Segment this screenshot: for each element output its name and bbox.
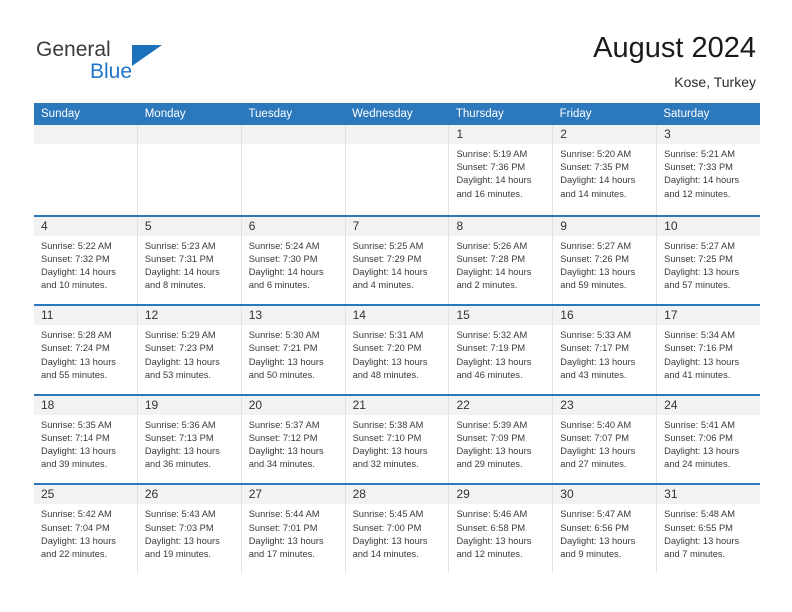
day-info: Sunrise: 5:29 AMSunset: 7:23 PMDaylight:… [138, 325, 241, 382]
day-number: 14 [353, 308, 366, 322]
sunrise-text: Sunrise: 5:27 AM [560, 240, 651, 253]
calendar-day-cell[interactable]: 25Sunrise: 5:42 AMSunset: 7:04 PMDayligh… [34, 485, 138, 573]
daylight-text: Daylight: 14 hours and 6 minutes. [249, 266, 340, 292]
day-number-band: 3 [657, 125, 760, 144]
daylight-text: Daylight: 14 hours and 16 minutes. [456, 174, 547, 200]
day-info: Sunrise: 5:21 AMSunset: 7:33 PMDaylight:… [657, 144, 760, 201]
daylight-text: Daylight: 13 hours and 46 minutes. [456, 356, 547, 382]
day-info: Sunrise: 5:26 AMSunset: 7:28 PMDaylight:… [449, 236, 552, 293]
day-number: 31 [664, 487, 677, 501]
day-of-week-header-saturday: Saturday [656, 103, 760, 125]
sunrise-text: Sunrise: 5:34 AM [664, 329, 755, 342]
day-number-band: 21 [346, 396, 449, 415]
daylight-text: Daylight: 14 hours and 12 minutes. [664, 174, 755, 200]
sunset-text: Sunset: 7:13 PM [145, 432, 236, 445]
sunset-text: Sunset: 7:00 PM [353, 522, 444, 535]
daylight-text: Daylight: 14 hours and 4 minutes. [353, 266, 444, 292]
day-info: Sunrise: 5:27 AMSunset: 7:26 PMDaylight:… [553, 236, 656, 293]
daylight-text: Daylight: 13 hours and 7 minutes. [664, 535, 755, 561]
daylight-text: Daylight: 13 hours and 34 minutes. [249, 445, 340, 471]
sunrise-text: Sunrise: 5:43 AM [145, 508, 236, 521]
day-number-band: 30 [553, 485, 656, 504]
sunrise-text: Sunrise: 5:32 AM [456, 329, 547, 342]
day-number: 17 [664, 308, 677, 322]
day-info: Sunrise: 5:44 AMSunset: 7:01 PMDaylight:… [242, 504, 345, 561]
sunrise-text: Sunrise: 5:41 AM [664, 419, 755, 432]
daylight-text: Daylight: 13 hours and 27 minutes. [560, 445, 651, 471]
day-number: 12 [145, 308, 158, 322]
daylight-text: Daylight: 13 hours and 57 minutes. [664, 266, 755, 292]
day-info: Sunrise: 5:42 AMSunset: 7:04 PMDaylight:… [34, 504, 137, 561]
day-of-week-header-sunday: Sunday [34, 103, 138, 125]
calendar-day-cell[interactable]: 12Sunrise: 5:29 AMSunset: 7:23 PMDayligh… [138, 306, 242, 394]
day-of-week-header-row: SundayMondayTuesdayWednesdayThursdayFrid… [34, 103, 760, 125]
sunrise-text: Sunrise: 5:33 AM [560, 329, 651, 342]
day-number-band: 28 [346, 485, 449, 504]
sunset-text: Sunset: 7:26 PM [560, 253, 651, 266]
daylight-text: Daylight: 13 hours and 24 minutes. [664, 445, 755, 471]
day-number: 29 [456, 487, 469, 501]
day-info: Sunrise: 5:41 AMSunset: 7:06 PMDaylight:… [657, 415, 760, 472]
calendar-day-cell-empty [346, 125, 450, 215]
triangle-icon [132, 45, 162, 66]
sunrise-text: Sunrise: 5:23 AM [145, 240, 236, 253]
daylight-text: Daylight: 13 hours and 55 minutes. [41, 356, 132, 382]
day-number-band: 2 [553, 125, 656, 144]
calendar-day-cell[interactable]: 11Sunrise: 5:28 AMSunset: 7:24 PMDayligh… [34, 306, 138, 394]
calendar-page: General Blue August 2024 Kose, Turkey Su… [0, 0, 792, 612]
daylight-text: Daylight: 13 hours and 39 minutes. [41, 445, 132, 471]
day-info: Sunrise: 5:28 AMSunset: 7:24 PMDaylight:… [34, 325, 137, 382]
day-number: 15 [456, 308, 469, 322]
logo-text-blue: Blue [90, 60, 132, 84]
sunset-text: Sunset: 7:30 PM [249, 253, 340, 266]
daylight-text: Daylight: 13 hours and 17 minutes. [249, 535, 340, 561]
day-number-band: 13 [242, 306, 345, 325]
calendar-day-cell[interactable]: 31Sunrise: 5:48 AMSunset: 6:55 PMDayligh… [657, 485, 760, 573]
sunrise-text: Sunrise: 5:19 AM [456, 148, 547, 161]
page-header: General Blue August 2024 Kose, Turkey [0, 0, 792, 100]
day-number: 25 [41, 487, 54, 501]
calendar-day-cell[interactable]: 26Sunrise: 5:43 AMSunset: 7:03 PMDayligh… [138, 485, 242, 573]
day-number: 24 [664, 398, 677, 412]
day-number-band: 11 [34, 306, 137, 325]
day-number-band: 19 [138, 396, 241, 415]
sunrise-text: Sunrise: 5:26 AM [456, 240, 547, 253]
sunrise-text: Sunrise: 5:48 AM [664, 508, 755, 521]
sunrise-text: Sunrise: 5:47 AM [560, 508, 651, 521]
sunrise-text: Sunrise: 5:25 AM [353, 240, 444, 253]
calendar-day-cell[interactable]: 10Sunrise: 5:27 AMSunset: 7:25 PMDayligh… [657, 217, 760, 305]
daylight-text: Daylight: 13 hours and 36 minutes. [145, 445, 236, 471]
daylight-text: Daylight: 13 hours and 29 minutes. [456, 445, 547, 471]
sunrise-text: Sunrise: 5:40 AM [560, 419, 651, 432]
sunrise-text: Sunrise: 5:45 AM [353, 508, 444, 521]
day-info: Sunrise: 5:22 AMSunset: 7:32 PMDaylight:… [34, 236, 137, 293]
day-number-band: 22 [449, 396, 552, 415]
day-number-band: 7 [346, 217, 449, 236]
day-number-band [138, 125, 241, 144]
day-number: 1 [456, 127, 463, 141]
sunset-text: Sunset: 7:06 PM [664, 432, 755, 445]
day-info: Sunrise: 5:43 AMSunset: 7:03 PMDaylight:… [138, 504, 241, 561]
day-info: Sunrise: 5:40 AMSunset: 7:07 PMDaylight:… [553, 415, 656, 472]
daylight-text: Daylight: 13 hours and 50 minutes. [249, 356, 340, 382]
day-number-band: 5 [138, 217, 241, 236]
day-number-band: 23 [553, 396, 656, 415]
calendar-day-cell[interactable]: 29Sunrise: 5:46 AMSunset: 6:58 PMDayligh… [449, 485, 553, 573]
sunrise-text: Sunrise: 5:30 AM [249, 329, 340, 342]
sunset-text: Sunset: 7:23 PM [145, 342, 236, 355]
sunrise-text: Sunrise: 5:29 AM [145, 329, 236, 342]
page-title: August 2024 [593, 30, 756, 66]
day-number-band: 27 [242, 485, 345, 504]
calendar-week-row: 1Sunrise: 5:19 AMSunset: 7:36 PMDaylight… [34, 125, 760, 215]
sunrise-text: Sunrise: 5:22 AM [41, 240, 132, 253]
sunrise-text: Sunrise: 5:38 AM [353, 419, 444, 432]
calendar-day-cell[interactable]: 16Sunrise: 5:33 AMSunset: 7:17 PMDayligh… [553, 306, 657, 394]
sunset-text: Sunset: 6:56 PM [560, 522, 651, 535]
calendar-day-cell[interactable]: 19Sunrise: 5:36 AMSunset: 7:13 PMDayligh… [138, 396, 242, 484]
day-info: Sunrise: 5:46 AMSunset: 6:58 PMDaylight:… [449, 504, 552, 561]
day-number-band: 17 [657, 306, 760, 325]
calendar-day-cell[interactable]: 5Sunrise: 5:23 AMSunset: 7:31 PMDaylight… [138, 217, 242, 305]
page-subtitle: Kose, Turkey [593, 72, 756, 92]
day-number: 8 [456, 219, 463, 233]
day-info: Sunrise: 5:35 AMSunset: 7:14 PMDaylight:… [34, 415, 137, 472]
day-number: 27 [249, 487, 262, 501]
daylight-text: Daylight: 13 hours and 9 minutes. [560, 535, 651, 561]
day-number-band: 20 [242, 396, 345, 415]
calendar-day-cell[interactable]: 30Sunrise: 5:47 AMSunset: 6:56 PMDayligh… [553, 485, 657, 573]
calendar-day-cell[interactable]: 1Sunrise: 5:19 AMSunset: 7:36 PMDaylight… [449, 125, 553, 215]
day-number: 5 [145, 219, 152, 233]
day-number: 7 [353, 219, 360, 233]
day-number-band: 24 [657, 396, 760, 415]
day-number-band: 6 [242, 217, 345, 236]
sunset-text: Sunset: 7:10 PM [353, 432, 444, 445]
sunrise-text: Sunrise: 5:46 AM [456, 508, 547, 521]
sunrise-text: Sunrise: 5:27 AM [664, 240, 755, 253]
day-number: 13 [249, 308, 262, 322]
title-block: August 2024 Kose, Turkey [593, 30, 756, 92]
day-number: 9 [560, 219, 567, 233]
calendar-day-cell[interactable]: 22Sunrise: 5:39 AMSunset: 7:09 PMDayligh… [449, 396, 553, 484]
day-number-band: 29 [449, 485, 552, 504]
sunset-text: Sunset: 7:32 PM [41, 253, 132, 266]
day-number-band: 16 [553, 306, 656, 325]
sunset-text: Sunset: 7:25 PM [664, 253, 755, 266]
calendar-day-cell-empty [34, 125, 138, 215]
daylight-text: Daylight: 13 hours and 19 minutes. [145, 535, 236, 561]
calendar-day-cell[interactable]: 20Sunrise: 5:37 AMSunset: 7:12 PMDayligh… [242, 396, 346, 484]
day-info: Sunrise: 5:27 AMSunset: 7:25 PMDaylight:… [657, 236, 760, 293]
calendar-day-cell[interactable]: 2Sunrise: 5:20 AMSunset: 7:35 PMDaylight… [553, 125, 657, 215]
calendar-week-row: 11Sunrise: 5:28 AMSunset: 7:24 PMDayligh… [34, 304, 760, 394]
day-number-band: 25 [34, 485, 137, 504]
sunrise-text: Sunrise: 5:42 AM [41, 508, 132, 521]
sunrise-text: Sunrise: 5:39 AM [456, 419, 547, 432]
sunset-text: Sunset: 7:14 PM [41, 432, 132, 445]
sunrise-text: Sunrise: 5:44 AM [249, 508, 340, 521]
sunset-text: Sunset: 7:21 PM [249, 342, 340, 355]
sunset-text: Sunset: 7:20 PM [353, 342, 444, 355]
day-info: Sunrise: 5:37 AMSunset: 7:12 PMDaylight:… [242, 415, 345, 472]
calendar-day-cell[interactable]: 18Sunrise: 5:35 AMSunset: 7:14 PMDayligh… [34, 396, 138, 484]
day-of-week-header-tuesday: Tuesday [241, 103, 345, 125]
sunset-text: Sunset: 7:28 PM [456, 253, 547, 266]
day-number: 28 [353, 487, 366, 501]
day-info: Sunrise: 5:32 AMSunset: 7:19 PMDaylight:… [449, 325, 552, 382]
sunrise-text: Sunrise: 5:36 AM [145, 419, 236, 432]
day-number: 2 [560, 127, 567, 141]
sunset-text: Sunset: 7:09 PM [456, 432, 547, 445]
day-info: Sunrise: 5:31 AMSunset: 7:20 PMDaylight:… [346, 325, 449, 382]
daylight-text: Daylight: 14 hours and 2 minutes. [456, 266, 547, 292]
day-number: 23 [560, 398, 573, 412]
daylight-text: Daylight: 14 hours and 14 minutes. [560, 174, 651, 200]
day-number: 11 [41, 308, 53, 322]
day-number: 10 [664, 219, 677, 233]
day-info: Sunrise: 5:23 AMSunset: 7:31 PMDaylight:… [138, 236, 241, 293]
day-number: 18 [41, 398, 54, 412]
daylight-text: Daylight: 14 hours and 8 minutes. [145, 266, 236, 292]
day-number: 16 [560, 308, 573, 322]
day-number: 26 [145, 487, 158, 501]
day-number-band: 9 [553, 217, 656, 236]
day-number: 21 [353, 398, 366, 412]
calendar-week-row: 4Sunrise: 5:22 AMSunset: 7:32 PMDaylight… [34, 215, 760, 305]
day-info: Sunrise: 5:48 AMSunset: 6:55 PMDaylight:… [657, 504, 760, 561]
day-number: 22 [456, 398, 469, 412]
daylight-text: Daylight: 13 hours and 32 minutes. [353, 445, 444, 471]
day-info: Sunrise: 5:30 AMSunset: 7:21 PMDaylight:… [242, 325, 345, 382]
day-info: Sunrise: 5:39 AMSunset: 7:09 PMDaylight:… [449, 415, 552, 472]
sunset-text: Sunset: 7:24 PM [41, 342, 132, 355]
calendar-day-cell[interactable]: 13Sunrise: 5:30 AMSunset: 7:21 PMDayligh… [242, 306, 346, 394]
day-info: Sunrise: 5:38 AMSunset: 7:10 PMDaylight:… [346, 415, 449, 472]
daylight-text: Daylight: 13 hours and 41 minutes. [664, 356, 755, 382]
sunrise-text: Sunrise: 5:20 AM [560, 148, 651, 161]
calendar-day-cell[interactable]: 4Sunrise: 5:22 AMSunset: 7:32 PMDaylight… [34, 217, 138, 305]
calendar-day-cell[interactable]: 23Sunrise: 5:40 AMSunset: 7:07 PMDayligh… [553, 396, 657, 484]
day-of-week-header-thursday: Thursday [449, 103, 553, 125]
day-info: Sunrise: 5:19 AMSunset: 7:36 PMDaylight:… [449, 144, 552, 201]
day-number-band: 14 [346, 306, 449, 325]
sunset-text: Sunset: 7:16 PM [664, 342, 755, 355]
day-number: 20 [249, 398, 262, 412]
daylight-text: Daylight: 13 hours and 22 minutes. [41, 535, 132, 561]
calendar-day-cell[interactable]: 8Sunrise: 5:26 AMSunset: 7:28 PMDaylight… [449, 217, 553, 305]
daylight-text: Daylight: 13 hours and 48 minutes. [353, 356, 444, 382]
day-info: Sunrise: 5:24 AMSunset: 7:30 PMDaylight:… [242, 236, 345, 293]
sunset-text: Sunset: 6:58 PM [456, 522, 547, 535]
day-info: Sunrise: 5:25 AMSunset: 7:29 PMDaylight:… [346, 236, 449, 293]
sunset-text: Sunset: 7:12 PM [249, 432, 340, 445]
day-number-band: 26 [138, 485, 241, 504]
logo[interactable]: General Blue [36, 38, 216, 90]
sunrise-text: Sunrise: 5:28 AM [41, 329, 132, 342]
logo-text-general: General [36, 38, 111, 62]
sunrise-text: Sunrise: 5:24 AM [249, 240, 340, 253]
day-number: 3 [664, 127, 671, 141]
calendar-day-cell[interactable]: 17Sunrise: 5:34 AMSunset: 7:16 PMDayligh… [657, 306, 760, 394]
calendar-week-row: 25Sunrise: 5:42 AMSunset: 7:04 PMDayligh… [34, 483, 760, 573]
calendar-day-cell[interactable]: 24Sunrise: 5:41 AMSunset: 7:06 PMDayligh… [657, 396, 760, 484]
calendar-day-cell[interactable]: 7Sunrise: 5:25 AMSunset: 7:29 PMDaylight… [346, 217, 450, 305]
daylight-text: Daylight: 14 hours and 10 minutes. [41, 266, 132, 292]
day-number-band: 8 [449, 217, 552, 236]
calendar-day-cell[interactable]: 27Sunrise: 5:44 AMSunset: 7:01 PMDayligh… [242, 485, 346, 573]
calendar-day-cell-empty [138, 125, 242, 215]
sunset-text: Sunset: 7:31 PM [145, 253, 236, 266]
sunset-text: Sunset: 6:55 PM [664, 522, 755, 535]
sunset-text: Sunset: 7:36 PM [456, 161, 547, 174]
day-number-band: 4 [34, 217, 137, 236]
day-number-band: 10 [657, 217, 760, 236]
calendar-day-cell[interactable]: 15Sunrise: 5:32 AMSunset: 7:19 PMDayligh… [449, 306, 553, 394]
day-number-band [242, 125, 345, 144]
calendar-day-cell[interactable]: 21Sunrise: 5:38 AMSunset: 7:10 PMDayligh… [346, 396, 450, 484]
day-number: 19 [145, 398, 158, 412]
sunset-text: Sunset: 7:33 PM [664, 161, 755, 174]
day-info: Sunrise: 5:33 AMSunset: 7:17 PMDaylight:… [553, 325, 656, 382]
daylight-text: Daylight: 13 hours and 43 minutes. [560, 356, 651, 382]
day-of-week-header-monday: Monday [138, 103, 242, 125]
sunrise-text: Sunrise: 5:37 AM [249, 419, 340, 432]
sunrise-text: Sunrise: 5:31 AM [353, 329, 444, 342]
calendar-day-cell[interactable]: 9Sunrise: 5:27 AMSunset: 7:26 PMDaylight… [553, 217, 657, 305]
day-number-band [34, 125, 137, 144]
day-info: Sunrise: 5:20 AMSunset: 7:35 PMDaylight:… [553, 144, 656, 201]
calendar-day-cell[interactable]: 14Sunrise: 5:31 AMSunset: 7:20 PMDayligh… [346, 306, 450, 394]
daylight-text: Daylight: 13 hours and 14 minutes. [353, 535, 444, 561]
day-number-band: 12 [138, 306, 241, 325]
sunset-text: Sunset: 7:01 PM [249, 522, 340, 535]
sunset-text: Sunset: 7:35 PM [560, 161, 651, 174]
daylight-text: Daylight: 13 hours and 59 minutes. [560, 266, 651, 292]
day-info: Sunrise: 5:36 AMSunset: 7:13 PMDaylight:… [138, 415, 241, 472]
day-number-band [346, 125, 449, 144]
calendar-day-cell-empty [242, 125, 346, 215]
daylight-text: Daylight: 13 hours and 53 minutes. [145, 356, 236, 382]
sunset-text: Sunset: 7:04 PM [41, 522, 132, 535]
sunrise-text: Sunrise: 5:21 AM [664, 148, 755, 161]
day-of-week-header-friday: Friday [553, 103, 657, 125]
calendar-day-cell[interactable]: 3Sunrise: 5:21 AMSunset: 7:33 PMDaylight… [657, 125, 760, 215]
sunset-text: Sunset: 7:17 PM [560, 342, 651, 355]
day-number: 4 [41, 219, 48, 233]
daylight-text: Daylight: 13 hours and 12 minutes. [456, 535, 547, 561]
calendar-day-cell[interactable]: 6Sunrise: 5:24 AMSunset: 7:30 PMDaylight… [242, 217, 346, 305]
day-of-week-header-wednesday: Wednesday [345, 103, 449, 125]
day-info: Sunrise: 5:45 AMSunset: 7:00 PMDaylight:… [346, 504, 449, 561]
day-info: Sunrise: 5:34 AMSunset: 7:16 PMDaylight:… [657, 325, 760, 382]
day-number-band: 15 [449, 306, 552, 325]
day-number: 6 [249, 219, 256, 233]
sunset-text: Sunset: 7:03 PM [145, 522, 236, 535]
calendar-week-row: 18Sunrise: 5:35 AMSunset: 7:14 PMDayligh… [34, 394, 760, 484]
sunset-text: Sunset: 7:19 PM [456, 342, 547, 355]
day-number-band: 31 [657, 485, 760, 504]
sunrise-text: Sunrise: 5:35 AM [41, 419, 132, 432]
day-number: 30 [560, 487, 573, 501]
day-number-band: 18 [34, 396, 137, 415]
day-info: Sunrise: 5:47 AMSunset: 6:56 PMDaylight:… [553, 504, 656, 561]
calendar-grid: SundayMondayTuesdayWednesdayThursdayFrid… [34, 103, 760, 573]
sunset-text: Sunset: 7:07 PM [560, 432, 651, 445]
day-number-band: 1 [449, 125, 552, 144]
sunset-text: Sunset: 7:29 PM [353, 253, 444, 266]
calendar-day-cell[interactable]: 28Sunrise: 5:45 AMSunset: 7:00 PMDayligh… [346, 485, 450, 573]
